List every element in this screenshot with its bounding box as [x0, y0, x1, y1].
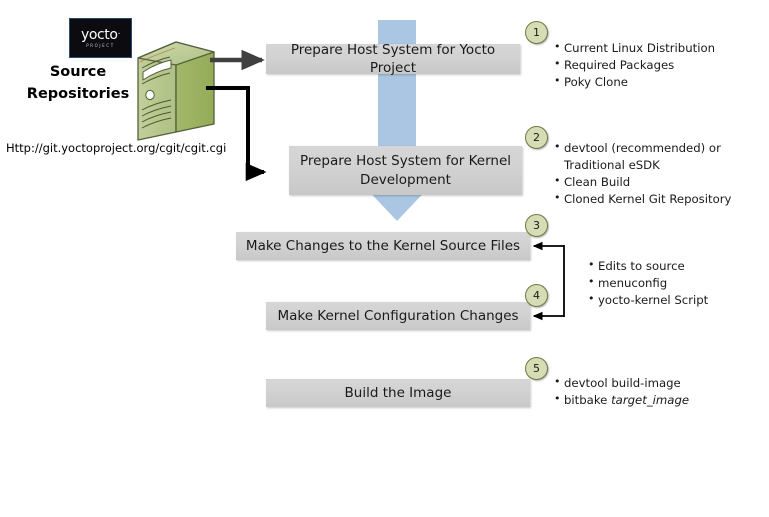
process-box-step3-label: Make Changes to the Kernel Source Files	[246, 237, 520, 255]
note-item: Clean Build	[564, 174, 731, 191]
process-box-step4-label: Make Kernel Configuration Changes	[277, 307, 518, 325]
notes-step1: Current Linux Distribution Required Pack…	[551, 40, 715, 91]
note-item: menuconfig	[598, 275, 708, 292]
notes-step5: devtool build-image bitbake target_image	[551, 375, 689, 409]
process-box-step2-label-line2: Development	[360, 171, 451, 189]
process-box-step1-label: Prepare Host System for Yocto Project	[274, 41, 512, 77]
process-box-step1[interactable]: Prepare Host System for Yocto Project	[266, 44, 520, 74]
source-label-line1: Source	[14, 62, 142, 84]
process-box-step2-label-line1: Prepare Host System for Kernel	[300, 152, 511, 170]
note-item: Current Linux Distribution	[564, 40, 715, 57]
process-box-step2[interactable]: Prepare Host System for Kernel Developme…	[289, 146, 522, 195]
logo-subtitle: PROJECT	[86, 44, 114, 48]
process-box-step4[interactable]: Make Kernel Configuration Changes	[266, 302, 530, 330]
diagram-canvas: yocto· PROJECT Source Repositories Http:…	[0, 0, 769, 517]
note-item: Cloned Kernel Git Repository	[564, 191, 731, 208]
source-repositories-label: Source Repositories	[14, 62, 142, 106]
step-badge-2: 2	[525, 126, 548, 149]
main-flow-arrow	[338, 20, 458, 505]
notes-steps-3-4: Edits to source menuconfig yocto-kernel …	[585, 258, 708, 309]
step-badge-3-number: 3	[533, 219, 540, 232]
note-item: devtool build-image	[564, 375, 689, 392]
note-item: yocto-kernel Script	[598, 292, 708, 309]
step-badge-1: 1	[525, 21, 548, 44]
step-badge-4-number: 4	[533, 289, 540, 302]
note-item: Required Packages	[564, 57, 715, 74]
note-item: Edits to source	[598, 258, 708, 275]
note-item: devtool (recommended) or	[564, 140, 731, 157]
step-badge-5-number: 5	[533, 362, 540, 375]
logo-wordmark: yocto·	[81, 28, 120, 42]
note-item: Poky Clone	[564, 74, 715, 91]
process-box-step5[interactable]: Build the Image	[266, 379, 530, 407]
step-badge-2-number: 2	[533, 131, 540, 144]
step-badge-3: 3	[525, 214, 548, 237]
note-item: bitbake target_image	[564, 392, 689, 409]
note-italic-token: target_image	[611, 393, 689, 407]
logo-dot: ·	[118, 30, 120, 40]
logo-word-text: yocto	[81, 27, 118, 43]
step-badge-1-number: 1	[533, 26, 540, 39]
source-label-line2: Repositories	[14, 84, 142, 106]
process-box-step5-label: Build the Image	[345, 384, 452, 402]
server-tower-icon	[128, 32, 224, 144]
notes-step2: devtool (recommended) or Traditional eSD…	[551, 140, 731, 208]
step-badge-5: 5	[525, 357, 548, 380]
step-badge-4: 4	[525, 284, 548, 307]
process-box-step3[interactable]: Make Changes to the Kernel Source Files	[236, 232, 530, 260]
note-item-continuation: Traditional eSDK	[564, 157, 731, 174]
yocto-project-logo: yocto· PROJECT	[69, 18, 132, 58]
